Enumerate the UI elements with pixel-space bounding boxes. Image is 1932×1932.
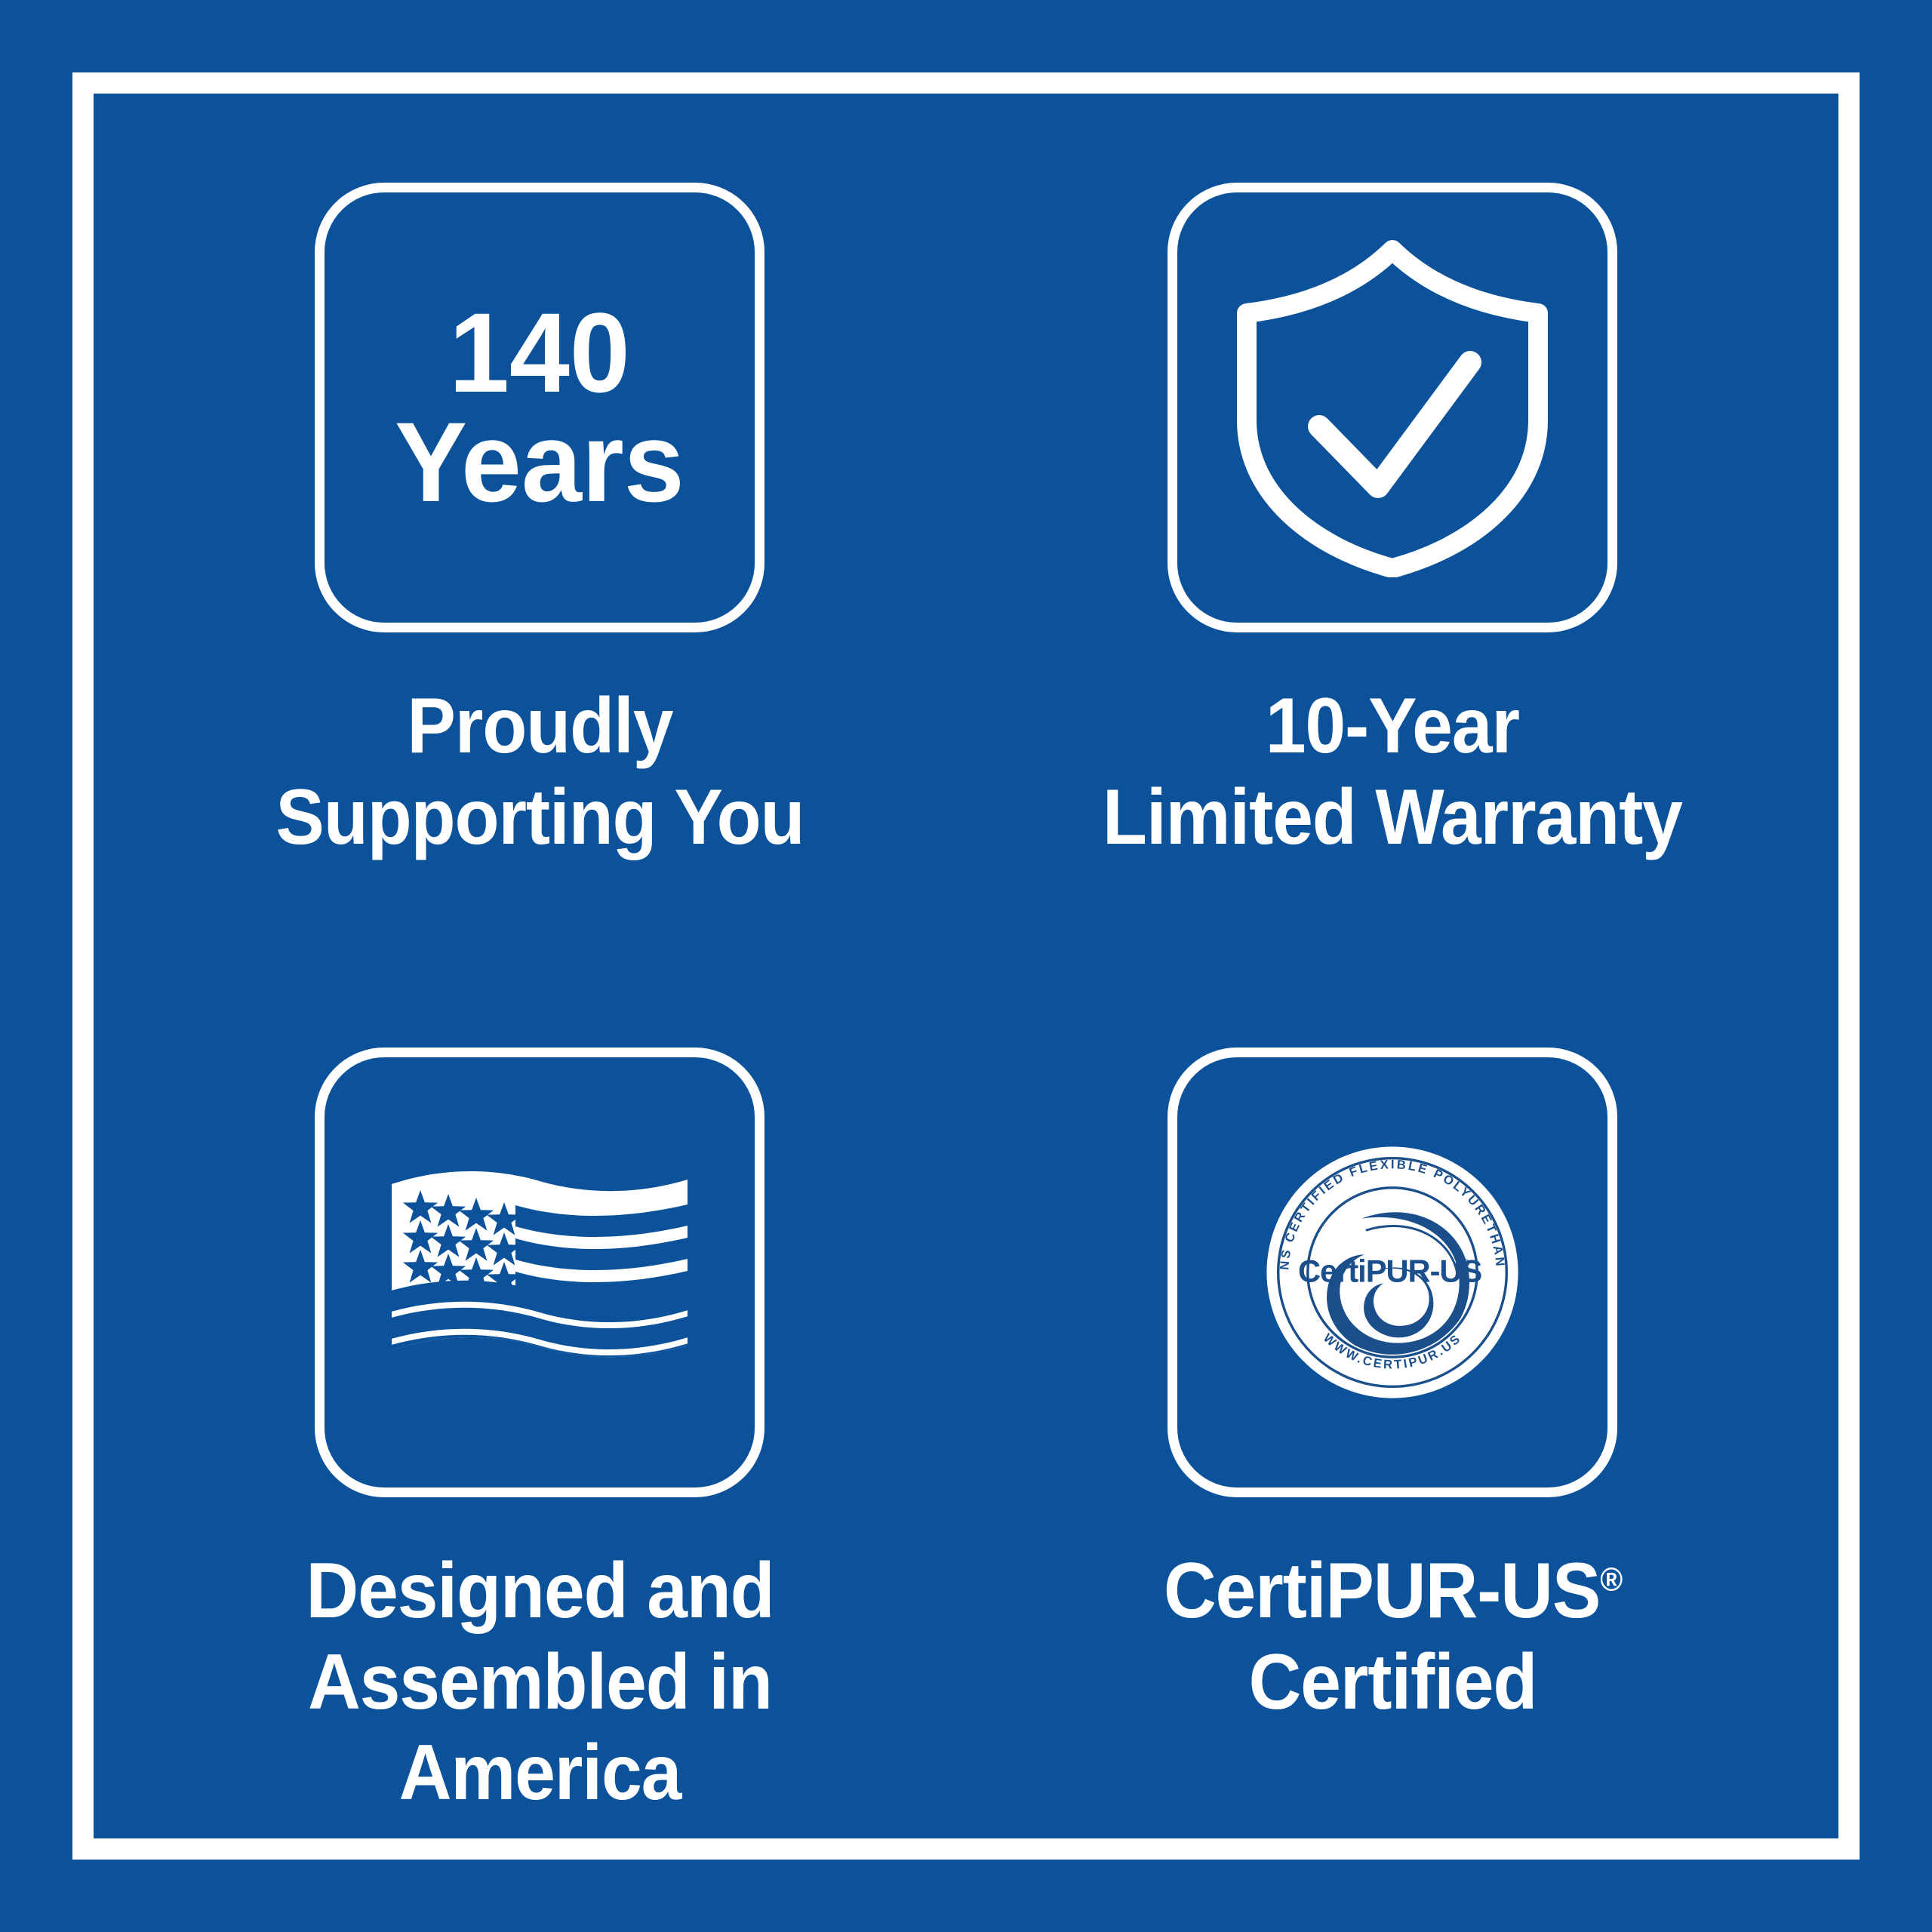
- seal-wordmark-text: CertiPUR-US: [1298, 1254, 1482, 1289]
- feature-cell-made-in-america: Designed and Assembled in America: [113, 934, 966, 1819]
- american-flag-icon: [389, 1171, 691, 1374]
- caption-line: Proudly: [275, 681, 804, 772]
- caption-limited-warranty: 10-Year Limited Warranty: [1103, 681, 1682, 863]
- caption-line: Supporting You: [275, 772, 804, 863]
- shield-tile: [1168, 183, 1617, 632]
- years-text-block: 140 Years: [395, 298, 685, 518]
- caption-line: Limited Warranty: [1103, 772, 1682, 863]
- feature-cell-years-badge: 140 Years Proudly Supporting You: [113, 113, 966, 934]
- caption-line: Assembled in: [306, 1637, 774, 1728]
- registered-trademark-symbol: ®: [1600, 1561, 1622, 1598]
- caption-line: CertiPUR-US®: [1163, 1546, 1621, 1637]
- feature-cell-certipur: CONTAINS CERTIFIED FLEXIBLE POLYURETHANE…: [966, 934, 1819, 1819]
- certipur-us-seal-icon: CONTAINS CERTIFIED FLEXIBLE POLYURETHANE…: [1264, 1144, 1521, 1401]
- feature-grid: 140 Years Proudly Supporting You 10-Year…: [113, 113, 1819, 1819]
- feature-cell-warranty: 10-Year Limited Warranty: [966, 113, 1819, 934]
- caption-line: Designed and: [306, 1546, 774, 1637]
- years-word: Years: [395, 408, 685, 518]
- seal-wordmark: CertiPUR-US ®: [1298, 1254, 1482, 1289]
- caption-line: Certified: [1163, 1637, 1621, 1728]
- caption-certipur-certified: CertiPUR-US® Certified: [1163, 1546, 1621, 1727]
- shield-check-icon: [1230, 238, 1555, 577]
- years-number: 140: [395, 298, 685, 408]
- seal-wordmark-registered-mark: ®: [1462, 1258, 1470, 1270]
- certipur-tile: CONTAINS CERTIFIED FLEXIBLE POLYURETHANE…: [1168, 1048, 1617, 1497]
- caption-line: America: [306, 1727, 774, 1819]
- caption-designed-assembled-america: Designed and Assembled in America: [306, 1546, 774, 1819]
- promo-poster: 140 Years Proudly Supporting You 10-Year…: [0, 0, 1932, 1932]
- flag-tile: [315, 1048, 764, 1497]
- caption-line: 10-Year: [1103, 681, 1682, 772]
- caption-line-text: CertiPUR-US: [1163, 1547, 1599, 1635]
- caption-proudly-supporting-you: Proudly Supporting You: [275, 681, 804, 863]
- 140-years-tile-icon: 140 Years: [315, 183, 764, 632]
